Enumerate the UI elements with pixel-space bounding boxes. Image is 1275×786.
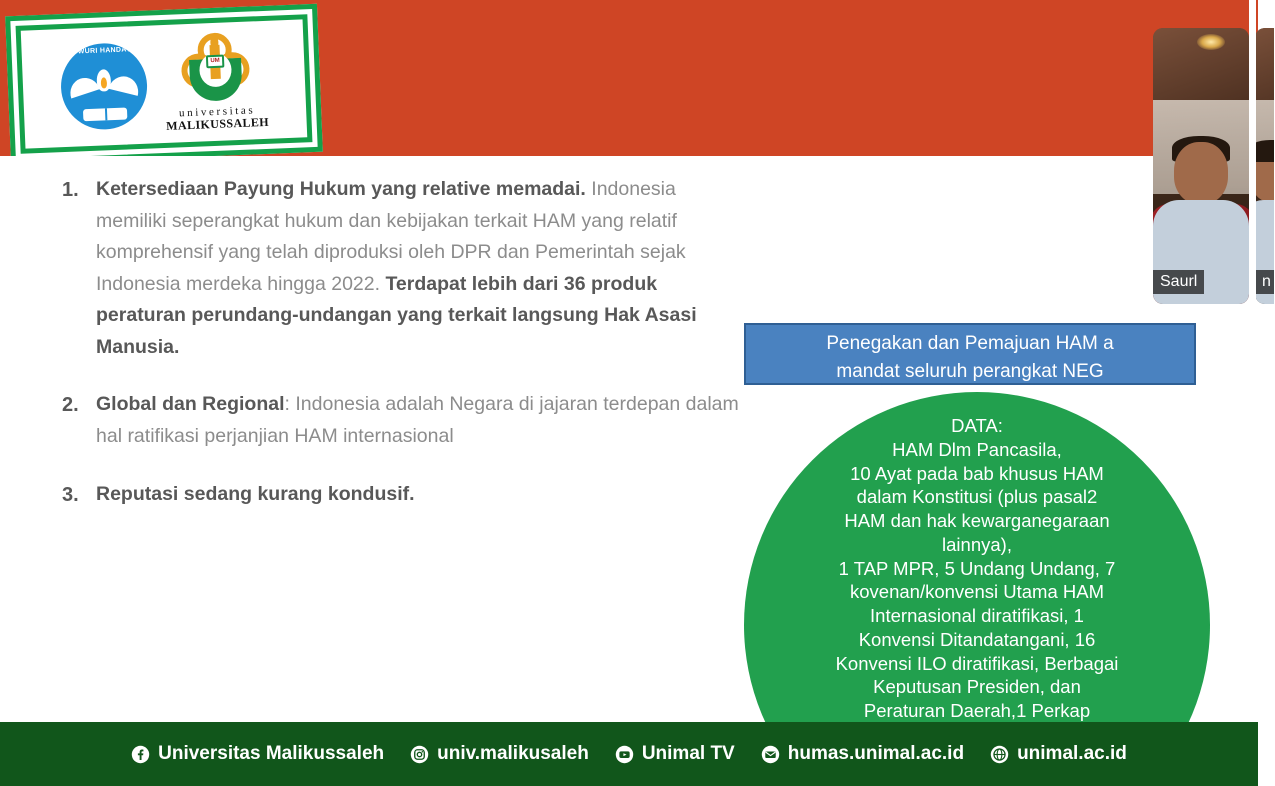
footer-item-facebook: Universitas Malikussaleh (131, 743, 384, 765)
slide-footer: Universitas Malikussaleh univ.malikusale… (0, 722, 1258, 786)
footer-label: unimal.ac.id (1017, 743, 1127, 765)
list-item-text-bold-1: Global dan Regional (96, 393, 285, 415)
book-icon (83, 108, 127, 122)
list-item: 3. Reputasi sedang kurang kondusif. (62, 479, 742, 511)
green-circle-line: DATA: (744, 414, 1210, 438)
participant-video-strip: Saurl n (1155, 0, 1275, 786)
tut-wuri-ring-text: TUT WURI HANDAYANI (59, 46, 145, 56)
numbered-list: 1. Ketersediaan Payung Hukum yang relati… (62, 174, 742, 537)
participant-name-label: n (1255, 270, 1275, 294)
footer-item-instagram: univ.malikusaleh (410, 743, 589, 765)
blue-callout-banner: Penegakan dan Pemajuan HAM a mandat selu… (744, 323, 1196, 385)
list-item-text-bold-1: Ketersediaan Payung Hukum yang relative … (96, 178, 591, 200)
list-item-text-bold-1: Reputasi sedang kurang kondusif. (96, 483, 415, 505)
green-circle-line: lainnya), (744, 533, 1210, 557)
green-circle-line: kovenan/konvensi Utama HAM (744, 580, 1210, 604)
footer-label: univ.malikusaleh (437, 743, 589, 765)
green-circle-line: 1 TAP MPR, 5 Undang Undang, 7 (744, 557, 1210, 581)
green-circle-line: HAM dan hak kewarganegaraan (744, 509, 1210, 533)
list-item-number: 3. (62, 479, 96, 511)
globe-icon (990, 745, 1009, 764)
tut-wuri-handayani-logo: TUT WURI HANDAYANI (59, 42, 148, 131)
green-circle-line: HAM Dlm Pancasila, (744, 438, 1210, 462)
green-circle-line: 10 Ayat pada bab khusus HAM (744, 462, 1210, 486)
shared-slide: TUT WURI HANDAYANI (0, 0, 1258, 786)
footer-label: humas.unimal.ac.id (788, 743, 964, 765)
university-name-line2: MALIKUSSALEH (166, 116, 269, 133)
footer-label: Universitas Malikussaleh (158, 743, 384, 765)
list-item-number: 1. (62, 174, 96, 363)
meeting-screen: TUT WURI HANDAYANI (0, 0, 1275, 786)
list-item-number: 2. (62, 389, 96, 452)
universitas-malikussaleh-logo: UM universitas MALIKUSSALEH (163, 31, 270, 133)
ceiling-light (1197, 34, 1225, 50)
blue-banner-line2: mandat seluruh perangkat NEG (746, 358, 1194, 385)
green-circle-line: dalam Konstitusi (plus pasal2 (744, 485, 1210, 509)
unimal-monogram: UM (206, 54, 225, 68)
youtube-icon (615, 745, 634, 764)
green-circle-line: Konvensi ILO diratifikasi, Berbagai (744, 652, 1210, 676)
footer-item-email: humas.unimal.ac.id (761, 743, 964, 765)
list-item: 1. Ketersediaan Payung Hukum yang relati… (62, 174, 742, 363)
video-tile-divider (1249, 0, 1256, 336)
list-item-text: Reputasi sedang kurang kondusif. (96, 479, 415, 511)
wing-left-icon (66, 74, 100, 99)
footer-item-website: unimal.ac.id (990, 743, 1127, 765)
green-circle-line: Peraturan Daerah,1 Perkap (744, 699, 1210, 723)
instagram-icon (410, 745, 429, 764)
list-item: 2. Global dan Regional: Indonesia adalah… (62, 389, 742, 452)
participant-hair (1255, 140, 1275, 162)
footer-label: Unimal TV (642, 743, 735, 765)
tut-wuri-handayani-icon: TUT WURI HANDAYANI (59, 42, 148, 131)
footer-item-youtube: Unimal TV (615, 743, 735, 765)
unimal-crest-icon: UM (178, 31, 253, 106)
participant-video-tile-secondary[interactable]: n (1255, 28, 1275, 304)
list-item-text: Ketersediaan Payung Hukum yang relative … (96, 174, 742, 363)
participant-video-tile[interactable]: Saurl (1153, 28, 1249, 304)
flame-icon (96, 69, 111, 92)
email-icon (761, 745, 780, 764)
green-circle-line: Keputusan Presiden, dan (744, 675, 1210, 699)
list-item-text: Global dan Regional: Indonesia adalah Ne… (96, 389, 742, 452)
slide-body: 1. Ketersediaan Payung Hukum yang relati… (0, 156, 1258, 722)
blue-banner-line1: Penegakan dan Pemajuan HAM a (746, 330, 1194, 358)
participant-face (1174, 142, 1228, 204)
logo-plate: TUT WURI HANDAYANI (5, 4, 323, 164)
green-circle-line: Konvensi Ditandatangani, 16 (744, 628, 1210, 652)
wing-right-icon (108, 73, 141, 96)
participant-name-label: Saurl (1153, 270, 1204, 294)
facebook-icon (131, 745, 150, 764)
green-circle-line: Internasional diratifikasi, 1 (744, 604, 1210, 628)
